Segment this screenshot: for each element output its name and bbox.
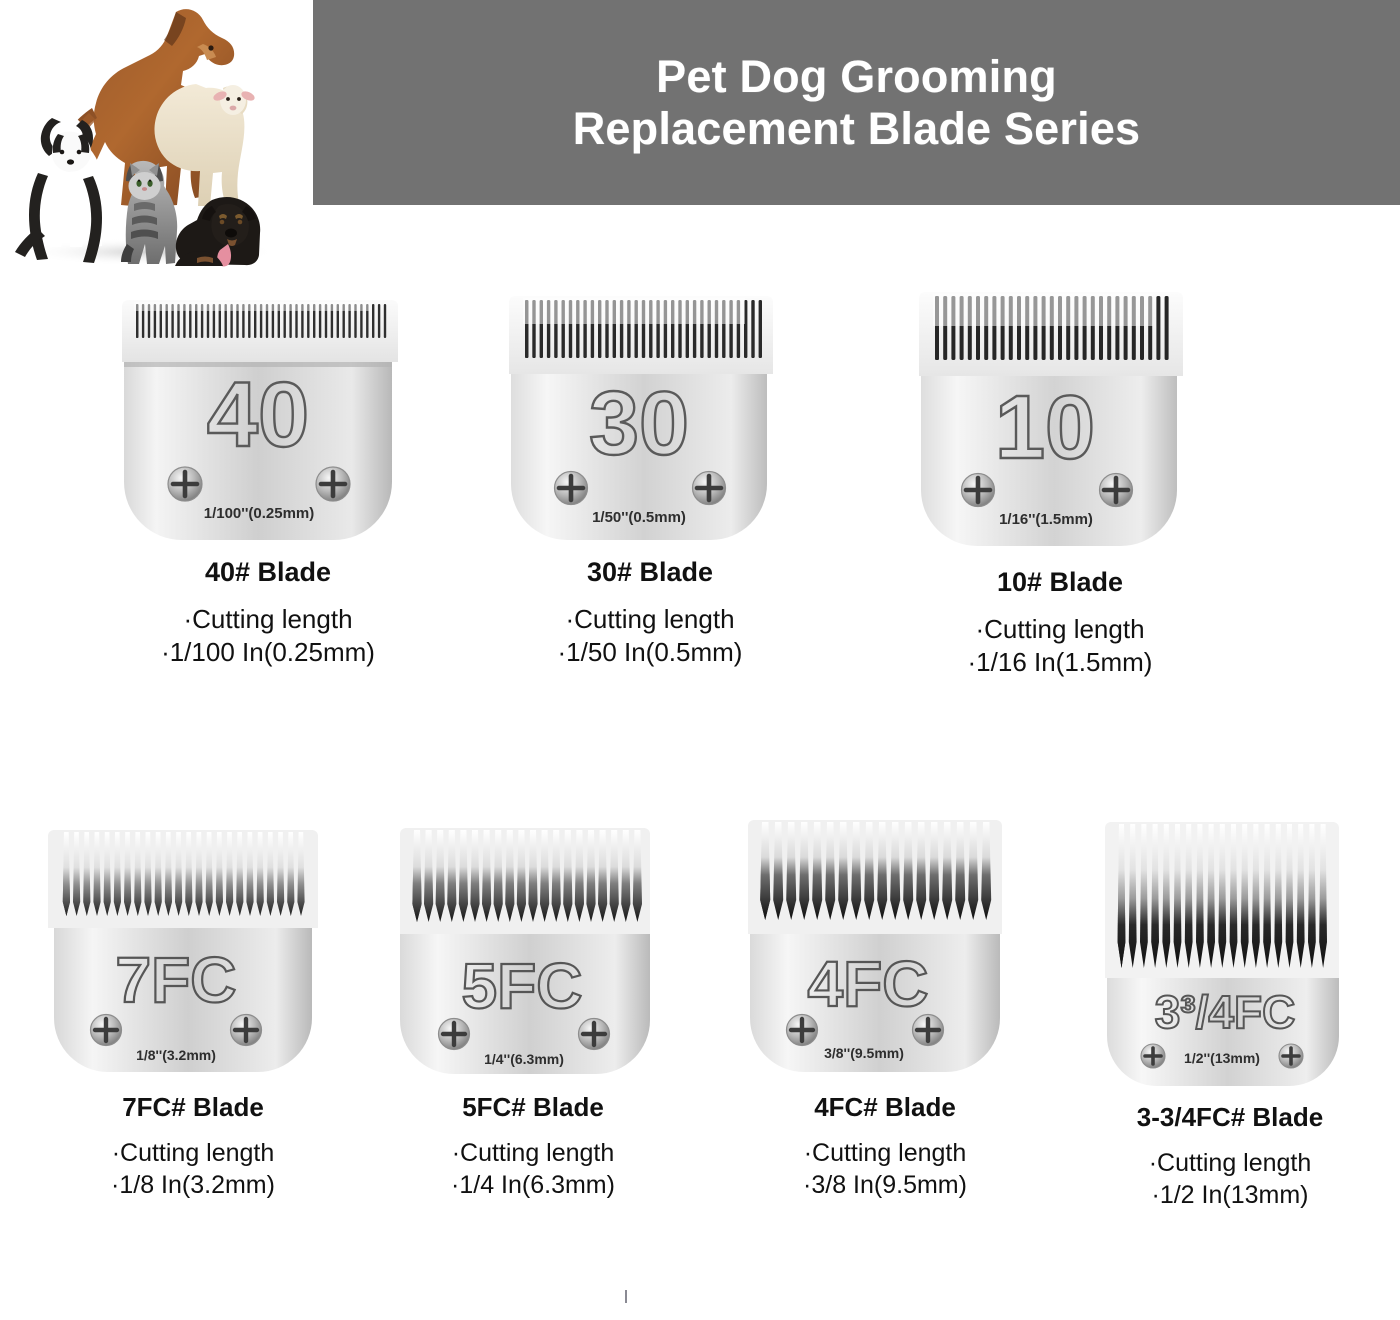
animal-collage-image	[0, 0, 300, 268]
blade-screw-right	[693, 472, 726, 505]
blade-card-10[interactable]: 10 1/16''(1.5mm) 10# Blade ·Cutting leng…	[915, 286, 1205, 679]
blade-engraved-number: 30	[589, 374, 689, 474]
blade-image-10: 10 1/16''(1.5mm)	[915, 286, 1205, 556]
page-title-line-2: Replacement Blade Series	[573, 103, 1141, 154]
infographic-page: Pet Dog Grooming Replacement Blade Serie…	[0, 0, 1400, 1320]
blade-engraved-number: 5FC	[462, 950, 583, 1022]
blade-engraved-size: 1/8''(3.2mm)	[136, 1047, 216, 1063]
blade-bullet-1: ·Cutting length	[48, 1137, 338, 1169]
blade-engraved-size: 1/16''(1.5mm)	[999, 511, 1093, 528]
blade-bullet-2: ·1/4 In(6.3mm)	[388, 1169, 678, 1201]
blade-screw-right	[1100, 474, 1133, 507]
blade-caption-10: 10# Blade ·Cutting length ·1/16 In(1.5mm…	[915, 566, 1205, 679]
blade-caption-title: 10# Blade	[915, 566, 1205, 600]
blade-screw-right	[579, 1019, 610, 1050]
blade-card-40[interactable]: 40 1/100''(0.25mm) 40# Blade ·Cut	[118, 286, 418, 669]
blade-caption-title: 7FC# Blade	[48, 1091, 338, 1124]
blade-caption-title: 4FC# Blade	[740, 1091, 1030, 1124]
header-band: Pet Dog Grooming Replacement Blade Serie…	[313, 0, 1400, 205]
blade-bullet-1: ·Cutting length	[505, 603, 795, 636]
blade-card-3-3-4fc[interactable]: 3³/4FC 1/2''(13mm) 3-3/4FC# Blade ·Cutti…	[1085, 816, 1375, 1211]
blade-engraved-size: 1/4''(6.3mm)	[484, 1051, 564, 1067]
blade-screw-left	[168, 467, 202, 501]
blade-image-3-3-4fc: 3³/4FC 1/2''(13mm)	[1085, 816, 1375, 1091]
blade-screw-right	[1279, 1044, 1303, 1068]
blade-engraved-number: 3³/4FC	[1155, 986, 1296, 1038]
blade-card-5fc[interactable]: 5FC 1/4''(6.3mm) 5FC# Blade ·Cutting len…	[388, 816, 678, 1201]
blade-card-30[interactable]: 30 1/50''(0.5mm) 30# Blade ·Cutting leng…	[505, 286, 795, 669]
blade-caption-3-3-4fc: 3-3/4FC# Blade ·Cutting length ·1/2 In(1…	[1085, 1101, 1375, 1211]
blade-engraved-number: 10	[995, 378, 1095, 478]
blade-image-4fc: 4FC 3/8''(9.5mm)	[740, 816, 1030, 1081]
blade-caption-4fc: 4FC# Blade ·Cutting length ·3/8 In(9.5mm…	[740, 1091, 1030, 1201]
blade-engraved-number: 40	[207, 364, 309, 466]
blade-row-2: 7FC 1/8''(3.2mm) 7FC# Blade ·Cutting len…	[0, 816, 1400, 1236]
blade-screw-left	[787, 1015, 818, 1046]
blade-bullet-1: ·Cutting length	[740, 1137, 1030, 1169]
blade-engraved-size: 1/100''(0.25mm)	[204, 505, 315, 522]
blade-caption-7fc: 7FC# Blade ·Cutting length ·1/8 In(3.2mm…	[48, 1091, 338, 1201]
blade-caption-40: 40# Blade ·Cutting length ·1/100 In(0.25…	[118, 556, 418, 669]
blade-card-7fc[interactable]: 7FC 1/8''(3.2mm) 7FC# Blade ·Cutting len…	[48, 816, 338, 1201]
blade-bullet-1: ·Cutting length	[388, 1137, 678, 1169]
blade-screw-right	[913, 1015, 944, 1046]
blade-screw-right	[231, 1015, 262, 1046]
blade-engraved-size: 3/8''(9.5mm)	[824, 1045, 904, 1061]
blade-engraved-number: 7FC	[116, 944, 237, 1016]
blade-bullet-2: ·1/50 In(0.5mm)	[505, 636, 795, 669]
blade-engraved-size: 1/2''(13mm)	[1184, 1050, 1260, 1066]
blade-caption-title: 30# Blade	[505, 556, 795, 590]
blade-image-5fc: 5FC 1/4''(6.3mm)	[388, 816, 678, 1081]
page-title: Pet Dog Grooming Replacement Blade Serie…	[573, 51, 1141, 154]
blade-screw-left	[555, 472, 588, 505]
blade-bullet-1: ·Cutting length	[118, 603, 418, 636]
blade-caption-title: 3-3/4FC# Blade	[1085, 1101, 1375, 1134]
blade-bullet-1: ·Cutting length	[915, 613, 1205, 646]
blade-row-1: 40 1/100''(0.25mm) 40# Blade ·Cut	[0, 286, 1400, 706]
blade-bullet-2: ·1/16 In(1.5mm)	[915, 646, 1205, 679]
blade-card-4fc[interactable]: 4FC 3/8''(9.5mm) 4FC# Blade ·Cutting len…	[740, 816, 1030, 1201]
blade-caption-30: 30# Blade ·Cutting length ·1/50 In(0.5mm…	[505, 556, 795, 669]
blade-bullet-2: ·1/2 In(13mm)	[1085, 1179, 1375, 1211]
blade-engraved-size: 1/50''(0.5mm)	[592, 509, 686, 526]
bottom-artifact	[622, 1286, 634, 1304]
blade-caption-title: 5FC# Blade	[388, 1091, 678, 1124]
blade-bullet-2: ·3/8 In(9.5mm)	[740, 1169, 1030, 1201]
blade-screw-left	[91, 1015, 122, 1046]
blade-screw-right	[316, 467, 350, 501]
blade-screw-left	[439, 1019, 470, 1050]
blade-caption-title: 40# Blade	[118, 556, 418, 590]
blade-screw-left	[962, 474, 995, 507]
blade-image-30: 30 1/50''(0.5mm)	[505, 286, 795, 546]
blade-image-7fc: 7FC 1/8''(3.2mm)	[48, 816, 338, 1081]
blade-bullet-2: ·1/8 In(3.2mm)	[48, 1169, 338, 1201]
page-title-line-1: Pet Dog Grooming	[656, 51, 1057, 102]
blade-engraved-number: 4FC	[808, 948, 929, 1020]
blade-caption-5fc: 5FC# Blade ·Cutting length ·1/4 In(6.3mm…	[388, 1091, 678, 1201]
blade-bullet-1: ·Cutting length	[1085, 1147, 1375, 1179]
blade-bullet-2: ·1/100 In(0.25mm)	[118, 636, 418, 669]
blade-image-40: 40 1/100''(0.25mm)	[118, 286, 418, 546]
blade-screw-left	[1141, 1044, 1165, 1068]
